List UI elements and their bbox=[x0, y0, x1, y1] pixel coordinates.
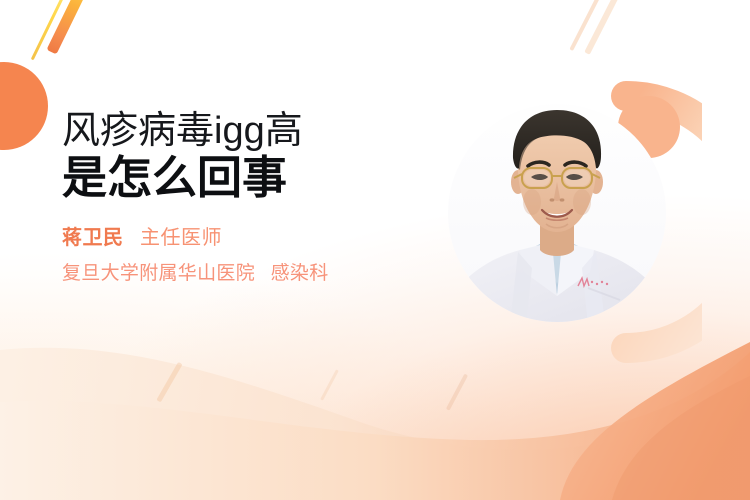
doctor-role: 主任医师 bbox=[140, 227, 222, 249]
page-title-line-2: 是怎么回事 bbox=[62, 152, 392, 204]
text-block: 风疹病毒igg高 是怎么回事 蒋卫民 主任医师 复旦大学附属华山医院 感染科 bbox=[62, 108, 392, 288]
hospital-name: 复旦大学附属华山医院 bbox=[62, 263, 255, 284]
promo-card: 风疹病毒igg高 是怎么回事 蒋卫民 主任医师 复旦大学附属华山医院 感染科 bbox=[0, 0, 750, 500]
doctor-affiliation: 复旦大学附属华山医院 感染科 bbox=[62, 260, 392, 288]
department-name: 感染科 bbox=[271, 263, 329, 284]
doctor-byline: 蒋卫民 主任医师 bbox=[62, 224, 392, 254]
doctor-portrait bbox=[448, 82, 666, 344]
page-title-line-1: 风疹病毒igg高 bbox=[62, 108, 392, 154]
doctor-name: 蒋卫民 bbox=[62, 227, 124, 249]
